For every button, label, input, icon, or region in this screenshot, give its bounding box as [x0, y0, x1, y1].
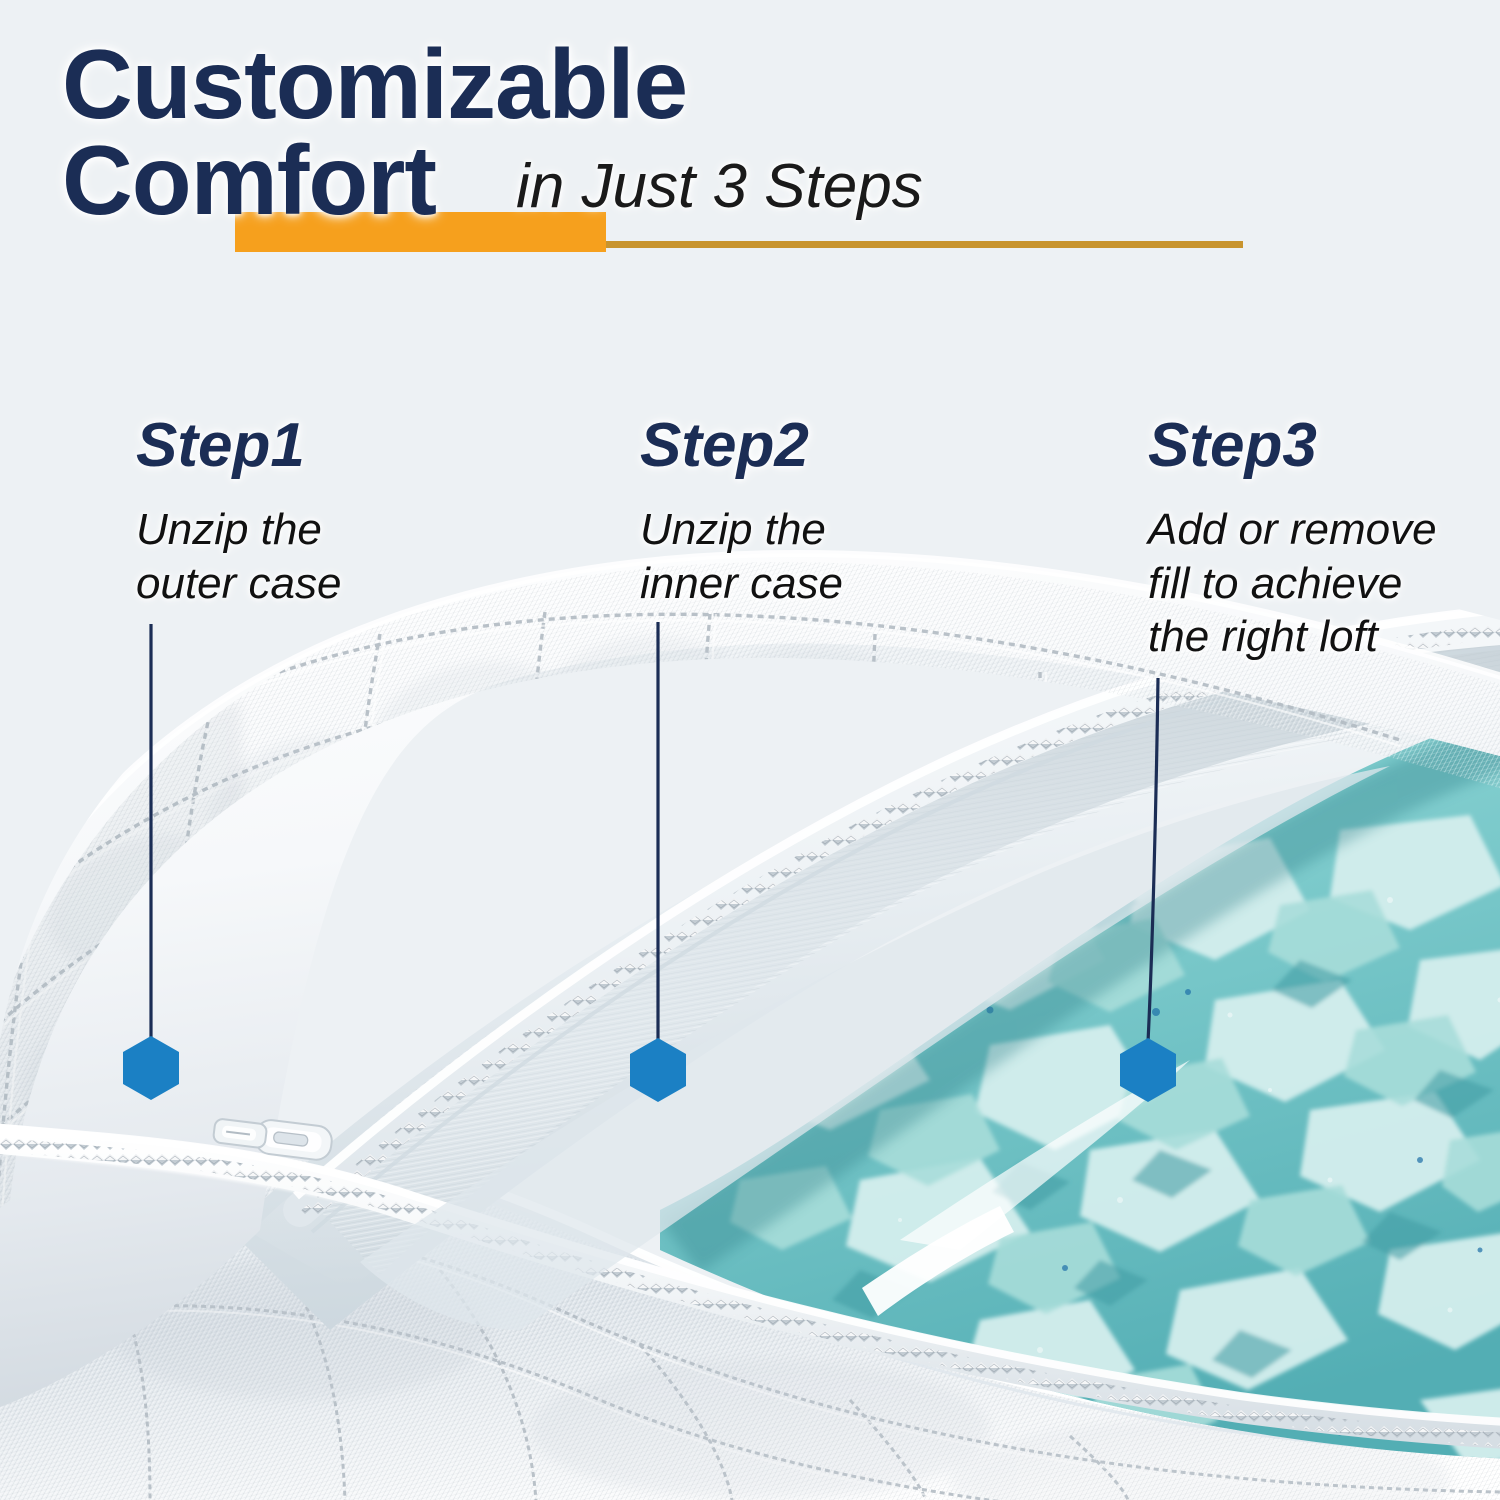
headline-gold-rule — [606, 241, 1243, 248]
headline-orange-highlight — [235, 212, 606, 252]
infographic-canvas: Customizable Comfort in Just 3 Steps Ste… — [0, 0, 1500, 1500]
pillow-product-image — [0, 0, 1500, 1500]
